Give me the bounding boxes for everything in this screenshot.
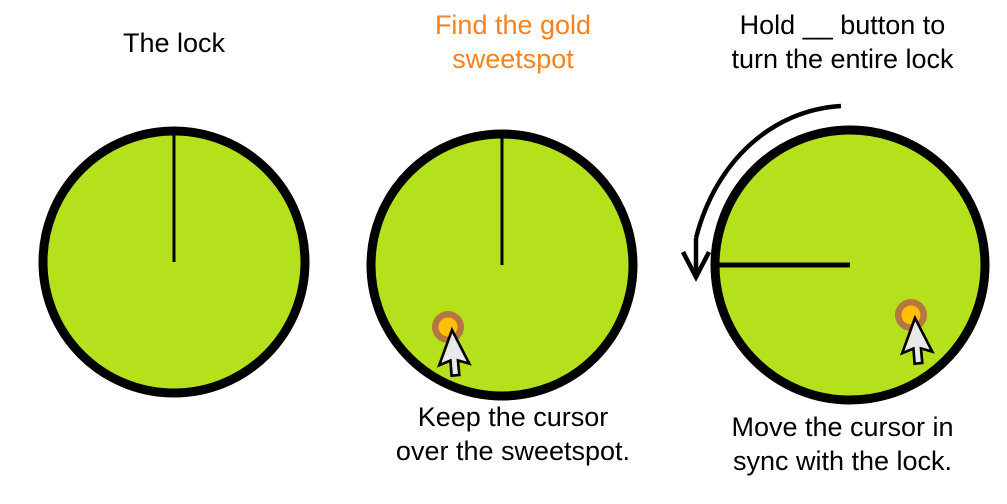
panel-caption-find-sweetspot: Keep the cursor over the sweetspot. bbox=[348, 400, 678, 468]
instruction-diagram: The lock Find the gold sweetspot Keep th… bbox=[0, 0, 1007, 504]
panel-hold-button-turn-lock: Hold __ button to turn the entire lock M… bbox=[678, 0, 1007, 504]
lock-illustration-1 bbox=[0, 0, 348, 504]
panel-find-sweetspot: Find the gold sweetspot Keep the cursor … bbox=[348, 0, 678, 504]
panel-caption-hold-button: Move the cursor in sync with the lock. bbox=[678, 410, 1007, 478]
panel-the-lock: The lock bbox=[0, 0, 348, 504]
